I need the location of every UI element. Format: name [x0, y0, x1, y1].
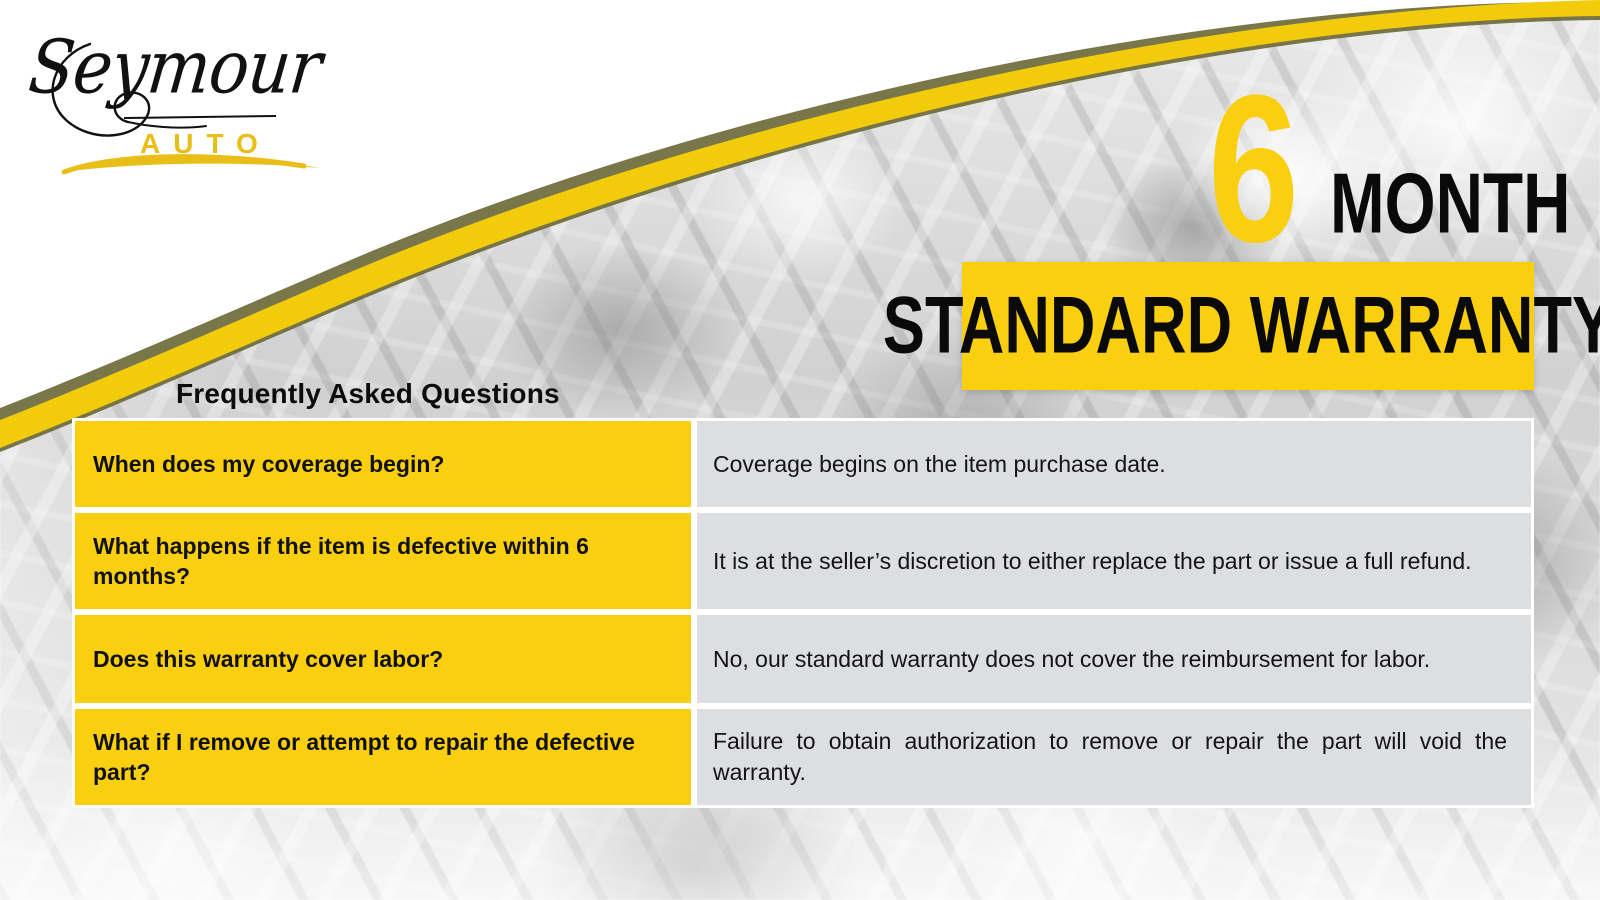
- warranty-title-text: STANDARD WARRANTY: [882, 286, 1600, 367]
- duration-number: 6: [1208, 64, 1296, 274]
- brand-logo: Seymour AUTO: [28, 22, 328, 177]
- faq-heading: Frequently Asked Questions: [176, 378, 560, 410]
- faq-answer-cell: Coverage begins on the item purchase dat…: [694, 418, 1534, 510]
- warranty-title-banner: STANDARD WARRANTY: [962, 262, 1534, 390]
- duration-unit: MONTH: [1330, 162, 1571, 247]
- table-row: What if I remove or attempt to repair th…: [72, 706, 1534, 808]
- table-row: Does this warranty cover labor? No, our …: [72, 612, 1534, 706]
- warranty-duration-headline: 6 MONTH: [1190, 82, 1520, 252]
- faq-question-cell: What if I remove or attempt to repair th…: [72, 706, 694, 808]
- table-row: What happens if the item is defective wi…: [72, 510, 1534, 612]
- table-row: When does my coverage begin? Coverage be…: [72, 418, 1534, 510]
- faq-table: When does my coverage begin? Coverage be…: [72, 418, 1534, 808]
- faq-question-cell: Does this warranty cover labor?: [72, 612, 694, 706]
- warranty-slide: Seymour AUTO 6 MONTH STANDARD WARRANTY F…: [0, 0, 1600, 900]
- logo-wordmark: Seymour: [25, 24, 325, 110]
- faq-question-cell: What happens if the item is defective wi…: [72, 510, 694, 612]
- faq-answer-cell: Failure to obtain authorization to remov…: [694, 706, 1534, 808]
- logo-subtext: AUTO: [140, 128, 271, 160]
- faq-question-cell: When does my coverage begin?: [72, 418, 694, 510]
- faq-answer-cell: It is at the seller’s discretion to eith…: [694, 510, 1534, 612]
- faq-answer-cell: No, our standard warranty does not cover…: [694, 612, 1534, 706]
